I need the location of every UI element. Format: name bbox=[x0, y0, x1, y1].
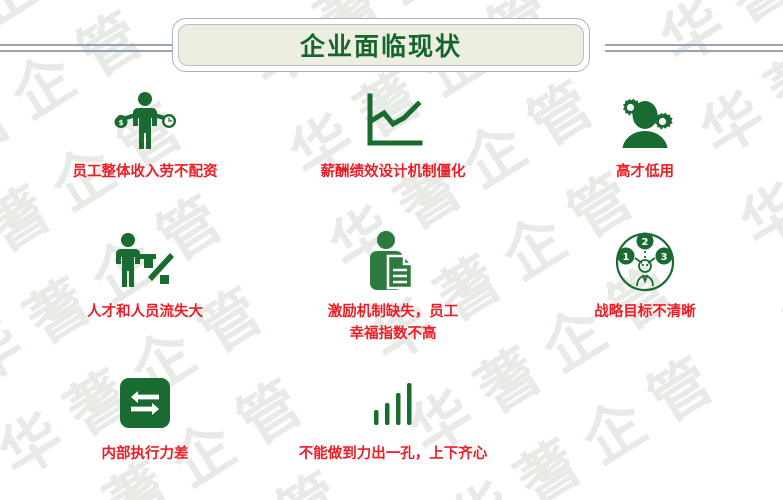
bar-chart-icon bbox=[370, 372, 416, 434]
caption-line: 不能做到力出一孔，上下齐心 bbox=[299, 443, 488, 465]
line-chart-icon bbox=[360, 90, 426, 152]
issue-caption: 人才和人员流失大 bbox=[87, 301, 203, 323]
svg-text:2: 2 bbox=[642, 237, 649, 248]
issues-grid: $ 员工整体收入劳不配资 薪酬绩效设计机制僵化 bbox=[0, 82, 783, 500]
issue-item-income-mismatch: $ 员工整体收入劳不配资 bbox=[20, 90, 270, 183]
svg-text:1: 1 bbox=[623, 252, 630, 263]
issue-item-weak-execution: 内部执行力差 bbox=[20, 372, 270, 465]
caption-line: 激励机制缺失，员工 bbox=[328, 301, 459, 323]
page-title: 企业面临现状 bbox=[300, 27, 462, 63]
issue-item-unclear-strategy: 2 1 3 战略目标不清晰 bbox=[520, 230, 770, 323]
caption-line: 高才低用 bbox=[616, 161, 674, 183]
person-document-icon bbox=[362, 230, 424, 292]
person-money-clock-icon: $ bbox=[108, 90, 182, 152]
caption-line: 战略目标不清晰 bbox=[594, 301, 696, 323]
issue-item-rigid-pay-performance: 薪酬绩效设计机制僵化 bbox=[258, 90, 528, 183]
issue-item-talent-attrition: 人才和人员流失大 bbox=[20, 230, 270, 323]
issue-caption: 高才低用 bbox=[616, 161, 674, 183]
caption-line: 人才和人员流失大 bbox=[87, 301, 203, 323]
header-rule-left-bottom bbox=[0, 50, 178, 52]
issue-caption: 激励机制缺失，员工 幸福指数不高 bbox=[328, 301, 459, 346]
person-declining-arrow-icon bbox=[108, 230, 182, 292]
issue-caption: 员工整体收入劳不配资 bbox=[73, 161, 218, 183]
header-rule-left-top bbox=[0, 44, 178, 46]
person-gears-icon bbox=[611, 90, 679, 152]
caption-line: 员工整体收入劳不配资 bbox=[73, 161, 218, 183]
issue-caption: 薪酬绩效设计机制僵化 bbox=[321, 161, 466, 183]
issue-item-no-incentive: 激励机制缺失，员工 幸福指数不高 bbox=[258, 230, 528, 346]
circle-123-person-icon: 2 1 3 bbox=[613, 230, 677, 292]
header-rule-right-bottom bbox=[605, 50, 783, 52]
svg-text:3: 3 bbox=[661, 252, 668, 263]
header-rule-right-top bbox=[605, 44, 783, 46]
issue-item-no-alignment: 不能做到力出一孔，上下齐心 bbox=[258, 372, 528, 465]
title-box-inner: 企业面临现状 bbox=[178, 24, 584, 66]
issue-caption: 战略目标不清晰 bbox=[594, 301, 696, 323]
caption-line: 薪酬绩效设计机制僵化 bbox=[321, 161, 466, 183]
caption-line: 内部执行力差 bbox=[102, 443, 189, 465]
exchange-arrows-icon bbox=[118, 372, 172, 434]
svg-text:$: $ bbox=[119, 119, 124, 127]
title-box-outer: 企业面临现状 bbox=[172, 18, 590, 72]
issue-caption: 内部执行力差 bbox=[102, 443, 189, 465]
issue-caption: 不能做到力出一孔，上下齐心 bbox=[299, 443, 488, 465]
caption-line: 幸福指数不高 bbox=[328, 323, 459, 345]
issue-item-talent-underused: 高才低用 bbox=[520, 90, 770, 183]
header: 企业面临现状 bbox=[0, 0, 783, 80]
